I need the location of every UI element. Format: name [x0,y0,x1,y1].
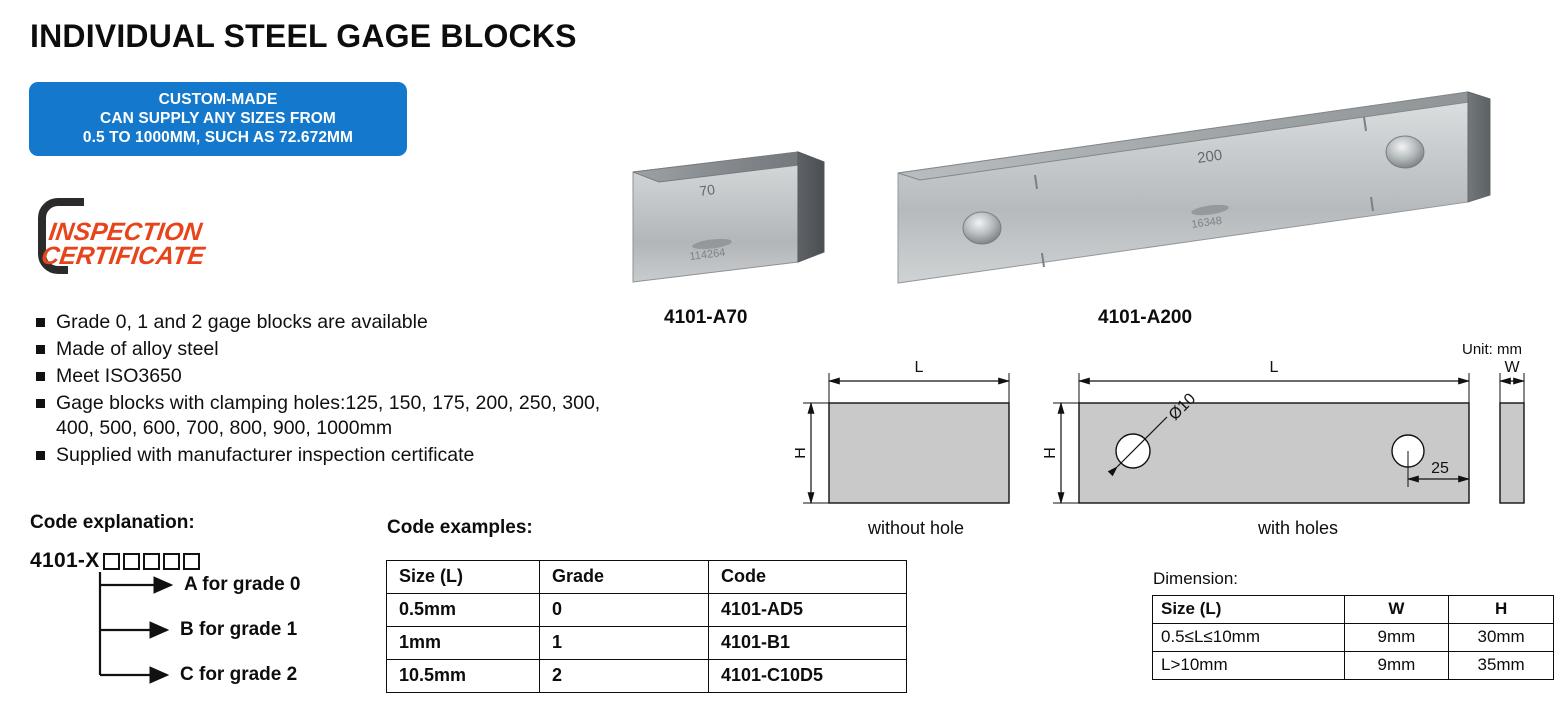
drawing-caption-with-holes: with holes [1258,518,1338,539]
code-examples-table: Size (L) Grade Code 0.5mm 0 4101-AD5 1mm… [386,560,907,693]
table-row: 10.5mm 2 4101-C10D5 [387,660,907,693]
product-label-a200: 4101-A200 [1098,307,1192,329]
cell-size: 0.5mm [387,594,540,627]
dimension-label-L: L [915,359,924,376]
code-examples-title: Code examples: [387,517,533,539]
table-row: L>10mm 9mm 35mm [1153,652,1554,680]
clamping-hole [963,212,1001,244]
column-header-w: W [1344,596,1449,624]
code-pattern: 4101-X [30,549,200,573]
code-placeholder-box [123,553,140,570]
column-header-size: Size (L) [1153,596,1345,624]
square-bullet-icon [36,451,45,460]
feature-text: Grade 0, 1 and 2 gage blocks are availab… [56,310,428,335]
dimension-label-H: H [1042,447,1059,459]
table-row: 0.5mm 0 4101-AD5 [387,594,907,627]
list-item: Supplied with manufacturer inspection ce… [30,443,640,468]
feature-text: Meet ISO3650 [56,364,182,389]
code-explanation-title: Code explanation: [30,512,195,534]
dimension-label-H: H [795,447,809,459]
table-header-row: Size (L) W H [1153,596,1554,624]
code-placeholder-box [183,553,200,570]
table-row: 1mm 1 4101-B1 [387,627,907,660]
custom-badge-line-1: CUSTOM-MADE [35,90,401,109]
custom-badge-line-2: CAN SUPPLY ANY SIZES FROM [35,109,401,128]
cell-grade: 1 [540,627,709,660]
column-header-grade: Grade [540,561,709,594]
block-side-face [1468,92,1490,202]
code-placeholder-box [163,553,180,570]
block-size-marking: 70 [698,181,716,199]
table-row: 0.5≤L≤10mm 9mm 30mm [1153,624,1554,652]
cell-code: 4101-C10D5 [709,660,907,693]
block-outline-without-hole [829,403,1009,503]
product-label-a70: 4101-A70 [664,307,747,329]
block-outline-side-view [1500,403,1524,503]
cell-w: 9mm [1344,652,1449,680]
feature-list: Grade 0, 1 and 2 gage blocks are availab… [30,310,640,470]
grade-label-b: B for grade 1 [180,619,297,641]
product-photo-a200: 200 16348 [890,85,1500,290]
square-bullet-icon [36,399,45,408]
column-header-code: Code [709,561,907,594]
cell-size: 1mm [387,627,540,660]
list-item: Grade 0, 1 and 2 gage blocks are availab… [30,310,640,335]
edge-distance-label: 25 [1431,460,1449,477]
grade-label-a: A for grade 0 [184,574,301,596]
list-item: Meet ISO3650 [30,364,640,389]
page-title: INDIVIDUAL STEEL GAGE BLOCKS [30,18,577,55]
custom-badge-line-3: 0.5 TO 1000MM, SUCH AS 72.672MM [35,128,401,147]
code-placeholder-box [103,553,120,570]
dimension-label-W: W [1504,359,1520,376]
block-size-marking: 200 [1196,147,1223,167]
grade-label-c: C for grade 2 [180,664,297,686]
inspection-logo-line-2: CERTIFICATE [40,242,208,270]
custom-made-badge: CUSTOM-MADE CAN SUPPLY ANY SIZES FROM 0.… [29,82,407,156]
list-item: Made of alloy steel [30,337,640,362]
cell-h: 35mm [1449,652,1554,680]
cell-grade: 0 [540,594,709,627]
dimension-table-title: Dimension: [1153,569,1238,589]
square-bullet-icon [36,318,45,327]
feature-text: Supplied with manufacturer inspection ce… [56,443,474,468]
square-bullet-icon [36,345,45,354]
product-photo-a70: 70 114264 [628,140,838,290]
code-prefix: 4101-X [30,549,100,573]
column-header-h: H [1449,596,1554,624]
drawing-caption-without-hole: without hole [868,518,964,539]
column-header-size: Size (L) [387,561,540,594]
dimension-table: Size (L) W H 0.5≤L≤10mm 9mm 30mm L>10mm … [1152,595,1554,680]
cell-size: 10.5mm [387,660,540,693]
cell-size: L>10mm [1153,652,1345,680]
block-front-face [898,92,1468,283]
inspection-certificate-logo: INSPECTION CERTIFICATE [28,196,268,276]
code-placeholder-box [143,553,160,570]
feature-text: Gage blocks with clamping holes:125, 150… [56,391,640,441]
block-side-face [798,152,824,262]
clamping-hole [1386,136,1424,168]
cell-w: 9mm [1344,624,1449,652]
engineering-drawings: L H L H Ø10 25 W [795,355,1535,505]
dimension-label-L: L [1270,359,1279,376]
cell-code: 4101-AD5 [709,594,907,627]
list-item: Gage blocks with clamping holes:125, 150… [30,391,640,441]
square-bullet-icon [36,372,45,381]
cell-size: 0.5≤L≤10mm [1153,624,1345,652]
cell-grade: 2 [540,660,709,693]
code-explanation-callouts: A for grade 0 B for grade 1 C for grade … [95,572,365,692]
table-header-row: Size (L) Grade Code [387,561,907,594]
feature-text: Made of alloy steel [56,337,219,362]
cell-code: 4101-B1 [709,627,907,660]
cell-h: 30mm [1449,624,1554,652]
